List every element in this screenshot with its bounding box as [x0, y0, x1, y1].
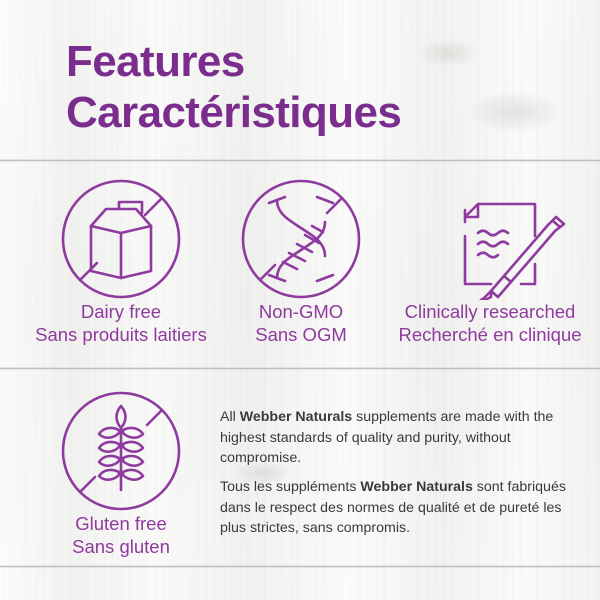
feature-infographic: Features Caractéristiques Dairy free San… — [0, 0, 600, 600]
paragraph-en: All Webber Naturals supplements are made… — [220, 407, 570, 469]
paragraph-en-before-brand: All — [220, 409, 240, 425]
label-en: Non-GMO — [259, 301, 343, 322]
feature-label-gluten-free: Gluten free Sans gluten — [37, 512, 205, 558]
feature-clinically-researched: Clinically researched Recherché en clini… — [390, 178, 590, 346]
page-title: Features Caractéristiques — [66, 36, 401, 138]
paragraph-fr-before-brand: Tous les suppléments — [220, 479, 360, 495]
no-gluten-wheat-icon — [37, 390, 205, 512]
no-dairy-carton-icon — [21, 178, 221, 300]
page-title-fr: Caractéristiques — [66, 87, 401, 138]
label-fr: Sans produits laitiers — [21, 323, 221, 346]
label-en: Dairy free — [81, 301, 161, 322]
plank-seam — [0, 565, 600, 568]
plank-seam — [0, 159, 600, 162]
feature-label-non-gmo: Non-GMO Sans OGM — [211, 300, 391, 346]
clipboard-pen-icon — [390, 178, 590, 300]
label-fr: Sans gluten — [37, 535, 205, 558]
label-en: Clinically researched — [405, 301, 576, 322]
brand-name: Webber Naturals — [240, 409, 352, 425]
brand-name: Webber Naturals — [360, 479, 472, 495]
plank-seam — [0, 367, 600, 370]
feature-gluten-free: Gluten free Sans gluten — [37, 390, 205, 558]
page-title-en: Features — [66, 36, 401, 87]
feature-label-dairy-free: Dairy free Sans produits laitiers — [21, 300, 221, 346]
label-en: Gluten free — [75, 513, 167, 534]
wood-knot — [418, 40, 478, 66]
feature-label-clinically-researched: Clinically researched Recherché en clini… — [390, 300, 590, 346]
label-fr: Sans OGM — [211, 323, 391, 346]
wood-knot — [470, 92, 560, 132]
feature-dairy-free: Dairy free Sans produits laitiers — [21, 178, 221, 346]
feature-non-gmo: Non-GMO Sans OGM — [211, 178, 391, 346]
paragraph-fr: Tous les suppléments Webber Naturals son… — [220, 477, 575, 539]
label-fr: Recherché en clinique — [390, 323, 590, 346]
no-gmo-dna-icon — [211, 178, 391, 300]
